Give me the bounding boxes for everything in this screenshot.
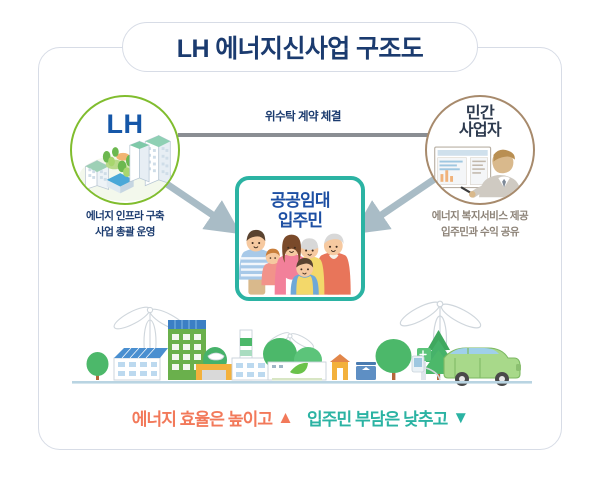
- title-badge: LH 에너지신사업 구조도: [122, 22, 478, 72]
- arrow-up-icon: ▲: [277, 409, 293, 426]
- node-private-caption: 에너지 복지서비스 제공 입주민과 수익 공유: [405, 208, 555, 241]
- node-lh-caption-line1: 에너지 인프라 구축: [60, 208, 190, 224]
- slogan-resident-burden-text: 입주민 부담은 낮추고: [307, 405, 447, 430]
- node-lh-caption-line2: 사업 총괄 운영: [60, 224, 190, 240]
- node-private-operator[interactable]: 민간 사업자: [425, 95, 535, 205]
- slogan-resident-burden: 입주민 부담은 낮추고 ▼: [307, 405, 468, 430]
- slogan-energy-efficiency-text: 에너지 효율은 높이고: [132, 405, 272, 430]
- contract-link-line: [178, 133, 428, 137]
- node-lh[interactable]: LH: [70, 95, 180, 205]
- slogan-row: 에너지 효율은 높이고 ▲ 입주민 부담은 낮추고 ▼: [60, 398, 540, 436]
- city-buildings-icon: [72, 97, 178, 203]
- arrow-down-icon: ▼: [452, 409, 468, 426]
- center-box-label-line2: 입주민: [239, 211, 361, 231]
- node-public-rental-resident[interactable]: 공공임대 입주민: [235, 176, 365, 301]
- infographic-canvas: LH 에너지신사업 구조도 위수탁 계약 체결: [0, 0, 600, 480]
- contract-link-label: 위수탁 계약 체결: [203, 108, 403, 124]
- center-box-label-line1: 공공임대: [239, 191, 361, 211]
- green-city-illustration: [72, 296, 532, 392]
- node-private-caption-line1: 에너지 복지서비스 제공: [405, 208, 555, 224]
- page-title: LH 에너지신사업 구조도: [177, 29, 423, 65]
- slogan-energy-efficiency: 에너지 효율은 높이고 ▲: [132, 405, 293, 430]
- center-box-label: 공공임대 입주민: [239, 191, 361, 230]
- family-group-icon: [239, 221, 361, 297]
- businessman-presentation-icon: [427, 97, 533, 203]
- node-private-caption-line2: 입주민과 수익 공유: [405, 224, 555, 240]
- node-lh-caption: 에너지 인프라 구축 사업 총괄 운영: [60, 208, 190, 241]
